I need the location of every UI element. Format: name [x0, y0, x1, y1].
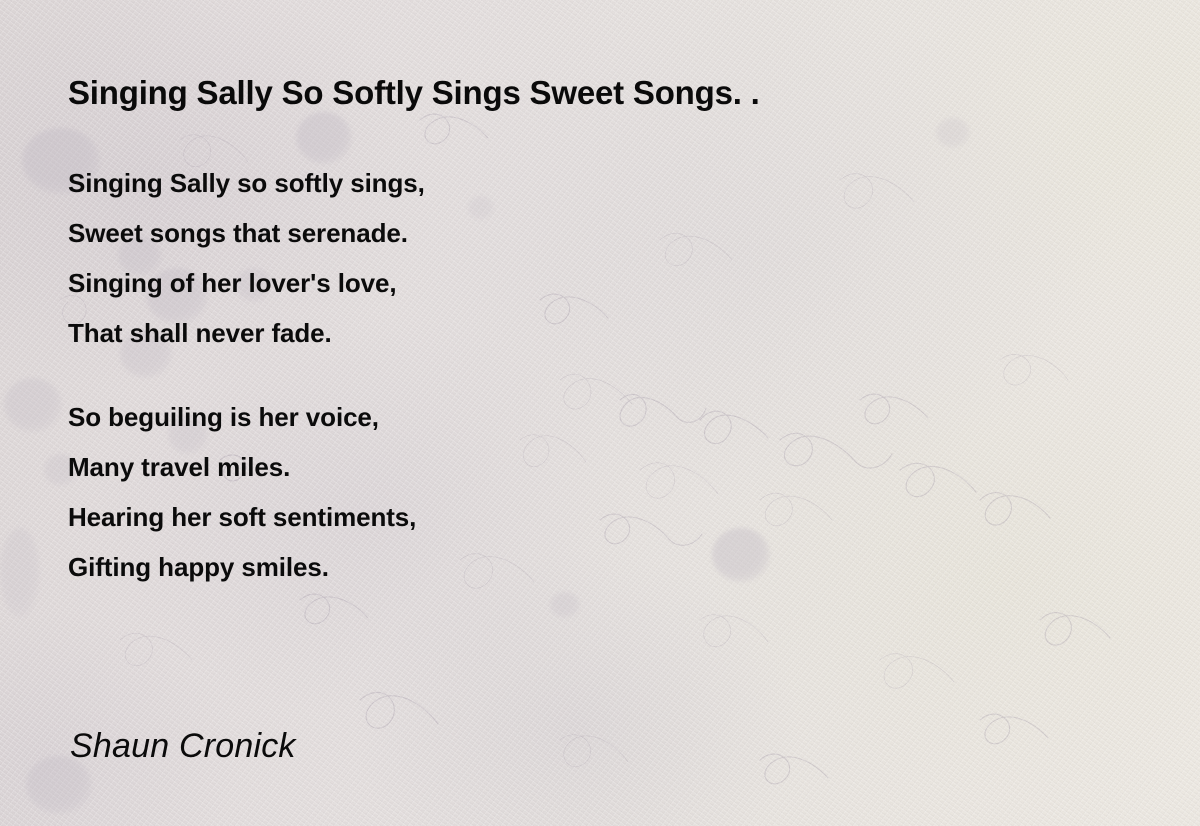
poem-line: Sweet songs that serenade.: [68, 208, 688, 258]
poem-content: Singing Sally So Softly Sings Sweet Song…: [0, 0, 1200, 826]
poem-line: Singing of her lover's love,: [68, 258, 688, 308]
poem-line: Singing Sally so softly sings,: [68, 158, 688, 208]
poem-line: Hearing her soft sentiments,: [68, 492, 688, 542]
poem-line: So beguiling is her voice,: [68, 392, 688, 442]
poem-stanza: Singing Sally so softly sings,Sweet song…: [68, 158, 688, 358]
poem-body: Singing Sally so softly sings,Sweet song…: [68, 158, 688, 592]
page-title: Singing Sally So Softly Sings Sweet Song…: [68, 74, 760, 112]
poem-line: Gifting happy smiles.: [68, 542, 688, 592]
author-signature: Shaun Cronick: [70, 727, 296, 766]
poem-page: Singing Sally So Softly Sings Sweet Song…: [0, 0, 1200, 826]
poem-line: Many travel miles.: [68, 442, 688, 492]
poem-stanza: So beguiling is her voice,Many travel mi…: [68, 392, 688, 592]
poem-line: That shall never fade.: [68, 308, 688, 358]
